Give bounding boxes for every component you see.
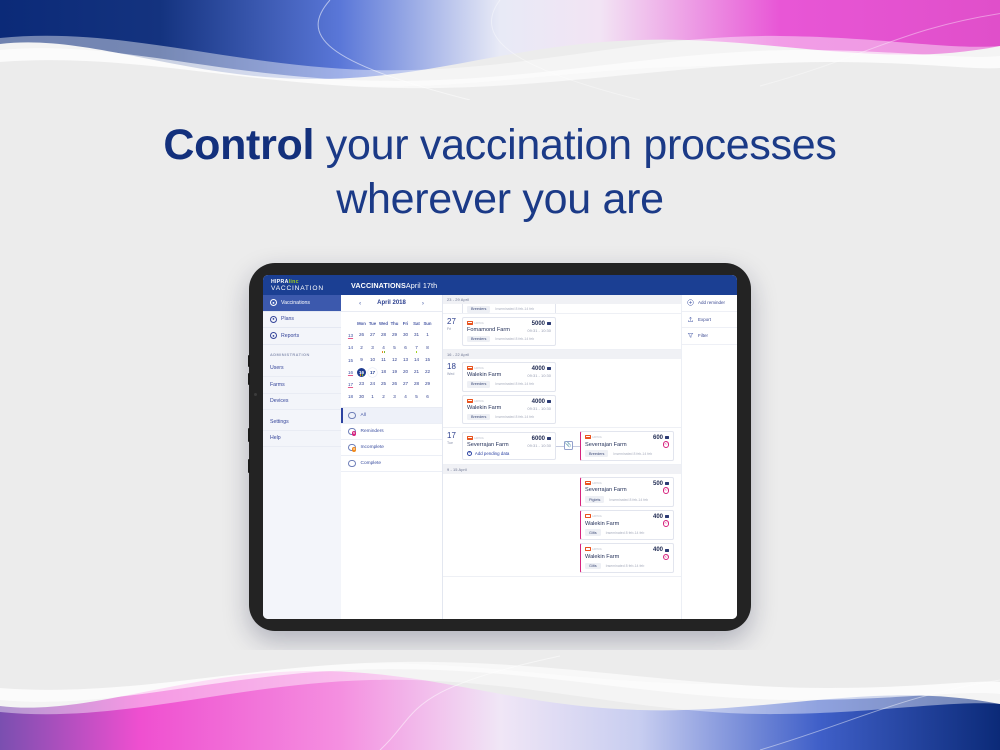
calendar-dow-label: Sun [422, 321, 433, 326]
dose-icon [665, 436, 670, 439]
event-card[interactable]: HIPRA6000Severrajan Farm09:31 - 10:30+Ad… [462, 432, 556, 460]
calendar-day-4[interactable]: 4 [400, 391, 411, 403]
calendar-day-28[interactable]: 28 [411, 378, 422, 390]
rail-export-button[interactable]: Export [682, 312, 737, 329]
dose-icon [547, 437, 552, 440]
event-card-body: Walekin Farm09:31 - 10:30 [467, 405, 551, 411]
calendar-dow-label: Tue [367, 321, 378, 326]
event-card-header: HIPRA400 [585, 514, 669, 520]
event-farm-name: Walekin Farm [467, 372, 501, 378]
event-insemination-range: Inseminated 8 feb-14 feb [613, 452, 652, 456]
page-title-caps: VACCINATIONS [351, 281, 406, 290]
event-card-header: HIPRA6000 [467, 436, 551, 442]
paperclip-icon[interactable]: 📎 [564, 441, 573, 450]
calendar-day-1[interactable]: 1 [367, 391, 378, 403]
event-card-body: Fomamond Farm09:31 - 10:30 [467, 327, 551, 333]
event-insemination-range: Inseminated 8 feb-14 feb [609, 498, 648, 502]
agenda-panel: 23 - 29 AprilBreedersInseminated 8 feb-1… [443, 295, 681, 619]
calendar-day-8[interactable]: 8 [422, 342, 433, 354]
add-pending-data-label: Add pending data [475, 451, 509, 456]
calendar-event-dot [362, 374, 364, 376]
front-camera-icon [254, 393, 257, 396]
power-button[interactable] [248, 428, 250, 442]
agenda-event-lane: HIPRA400Walekin Farm☉GiltsInseminated 8 … [462, 543, 677, 573]
calendar-day-29[interactable]: 29 [389, 329, 400, 341]
event-farm-name: Fomamond Farm [467, 327, 510, 333]
calendar-event-dot [384, 351, 386, 353]
clock-icon: 3 [348, 444, 356, 452]
calendar-filter-list: All6Reminders3IncompleteComplete [341, 407, 442, 472]
dose-icon [547, 400, 552, 403]
rail-item-label: Add reminder [698, 300, 725, 305]
page-headline: Control your vaccination processes where… [0, 118, 1000, 226]
event-farm-name: Walekin Farm [585, 521, 619, 527]
event-farm-name: Walekin Farm [585, 554, 619, 560]
chart-icon: ● [270, 332, 277, 339]
headline-bold: Control [163, 121, 314, 169]
event-card[interactable]: HIPRA400Walekin Farm☉GiltsInseminated 8 … [580, 510, 674, 540]
calendar-day-12[interactable]: 12 [389, 354, 400, 366]
dose-icon [547, 367, 552, 370]
filter-label: Reminders [361, 429, 384, 434]
calendar-week-row: 132627282930311 [345, 329, 438, 341]
sidebar-item-farms[interactable]: Farms [263, 377, 341, 394]
event-animal-tag: Gilts [585, 563, 601, 570]
event-time-range: 09:31 - 10:30 [527, 406, 551, 411]
headline-rest: your vaccination processes [314, 121, 837, 169]
event-card[interactable]: HIPRA500Severrajan Farm☉PigletsInseminat… [580, 477, 674, 507]
calendar-day-2[interactable]: 2 [378, 391, 389, 403]
app-top-bar: HIPRAlinc VACCINATION VACCINATIONS April… [263, 275, 737, 295]
agenda-week-header: 9 - 15 April [443, 465, 681, 474]
event-animal-tag: Piglets [585, 496, 604, 503]
agenda-week-header: 16 - 22 April [443, 350, 681, 359]
calendar-day-event-dots [378, 351, 389, 353]
calendar-day-9[interactable]: 9 [356, 354, 367, 366]
calendar-week-row: 142345678 [345, 342, 438, 354]
calendar-week-number[interactable]: 16 [345, 370, 356, 375]
reminder-bell-icon[interactable]: ☉ [663, 554, 670, 561]
calendar-day-1[interactable]: 1 [422, 329, 433, 341]
agenda-day-number: 18 [447, 363, 462, 371]
calendar-day-11[interactable]: 11 [378, 354, 389, 366]
sidebar-item-label: Devices [270, 398, 288, 404]
agenda-day-weekday: Wed [447, 372, 462, 376]
filter-complete[interactable]: Complete [341, 456, 442, 472]
calendar-week-row: 1723242526272829 [345, 378, 438, 390]
sidebar-item-devices[interactable]: Devices [263, 394, 341, 411]
event-card-logo: HIPRA [467, 321, 484, 325]
calendar-dow-label: Thu [389, 321, 400, 326]
event-quantity: 6000 [532, 436, 551, 442]
calendar-week-row: 1616171819202122 [345, 366, 438, 378]
event-card-logo: HIPRA [467, 399, 484, 403]
sidebar-item-label: Users [270, 365, 284, 371]
event-insemination-range: Inseminated 8 feb-14 feb [606, 564, 645, 568]
event-card-header: HIPRA4000 [467, 366, 551, 372]
calendar-month-label: April 2018 [377, 300, 406, 306]
calendar-day-4[interactable]: 4 [378, 342, 389, 354]
event-time-range: 09:31 - 10:30 [527, 443, 551, 448]
hipra-logo-icon [585, 547, 591, 551]
tablet-screen: HIPRAlinc VACCINATION VACCINATIONS April… [263, 275, 737, 619]
calendar-dow-label: Sat [411, 321, 422, 326]
event-card-footer: BreedersInseminated 8 feb-14 feb [467, 381, 551, 388]
sidebar-item-help[interactable]: Help [263, 431, 341, 448]
hipra-logo-icon [467, 399, 473, 403]
rail-filter-button[interactable]: Filter [682, 328, 737, 345]
tablet-device-frame: HIPRAlinc VACCINATION VACCINATIONS April… [249, 263, 751, 631]
grid-icon [348, 412, 356, 420]
calendar-day-30[interactable]: 30 [400, 329, 411, 341]
event-animal-tag: Breeders [467, 414, 490, 421]
calendar-week-row: 159101112131415 [345, 354, 438, 366]
agenda-event-lane: HIPRA500Severrajan Farm☉PigletsInseminat… [462, 477, 677, 507]
agenda-day-label: 18Wed [443, 359, 462, 427]
rail-item-label: Filter [698, 333, 708, 338]
event-card-footer: PigletsInseminated 8 feb-14 feb [585, 496, 669, 503]
event-card-body: Severrajan Farm☉ [585, 487, 669, 494]
sidebar-section-administration: ADMINISTRATION [263, 345, 341, 361]
page-title-date: April 17th [406, 281, 437, 290]
calendar-event-dot [360, 374, 362, 376]
agenda-day-weekday: Tue [447, 441, 462, 445]
sidebar-item-vaccinations[interactable]: ●Vaccinations [263, 295, 341, 312]
calendar-day-3[interactable]: 3 [367, 342, 378, 354]
event-farm-name: Severrajan Farm [585, 442, 627, 448]
event-card-logo: HIPRA [585, 547, 602, 551]
calendar-day-2[interactable]: 2 [356, 342, 367, 354]
agenda-event-lane: HIPRA4000Walekin Farm09:31 - 10:30Breede… [462, 362, 677, 392]
event-card[interactable]: HIPRA4000Walekin Farm09:31 - 10:30Breede… [462, 362, 556, 392]
upload-icon [687, 316, 694, 323]
event-quantity: 4000 [532, 366, 551, 372]
sidebar-item-label: Vaccinations [281, 300, 310, 306]
calendar-day-5[interactable]: 5 [389, 342, 400, 354]
event-card-header: HIPRA4000 [467, 399, 551, 405]
rail-add-reminder-button[interactable]: Add reminder [682, 295, 737, 312]
calendar-day-6[interactable]: 6 [400, 342, 411, 354]
event-animal-tag: Breeders [467, 336, 490, 343]
hipra-logo-icon [467, 436, 473, 440]
filter-incomplete[interactable]: 3Incomplete [341, 440, 442, 456]
decorative-wave-top [0, 0, 1000, 100]
rail-item-label: Export [698, 317, 711, 322]
calendar-day-13[interactable]: 13 [400, 354, 411, 366]
reminder-bell-icon[interactable]: ☉ [663, 487, 670, 494]
event-animal-tag: Gilts [585, 529, 601, 536]
event-farm-name: Walekin Farm [467, 405, 501, 411]
calendar-day-3[interactable]: 3 [389, 391, 400, 403]
event-card-body: Walekin Farm☉ [585, 554, 669, 561]
agenda-day-row: 18WedHIPRA4000Walekin Farm09:31 - 10:30B… [443, 359, 681, 428]
event-card-body: Severrajan Farm☉ [585, 441, 669, 448]
event-card-body: Walekin Farm09:31 - 10:30 [467, 372, 551, 378]
sidebar-item-users[interactable]: Users [263, 361, 341, 378]
event-quantity: 4000 [532, 399, 551, 405]
calendar-day-16[interactable]: 16 [357, 368, 366, 377]
calendar-next-month-button[interactable]: › [422, 300, 424, 307]
event-farm-name: Severrajan Farm [585, 487, 627, 493]
calendar-day-15[interactable]: 15 [422, 354, 433, 366]
calendar-panel: ‹ April 2018 › MonTueWedThuFriSatSun 132… [341, 295, 443, 619]
filter-reminders[interactable]: 6Reminders [341, 424, 442, 440]
agenda-event-lane: HIPRA6000Severrajan Farm09:31 - 10:30+Ad… [462, 431, 677, 461]
event-time-range: 09:31 - 10:30 [527, 373, 551, 378]
event-card-header: HIPRA5000 [467, 321, 551, 327]
event-insemination-range: Inseminated 8 feb-14 feb [495, 307, 534, 311]
funnel-icon [687, 332, 694, 339]
plus-circle-icon: + [467, 451, 472, 456]
event-card-footer: GiltsInseminated 8 feb-14 feb [585, 529, 669, 536]
dose-icon [665, 482, 670, 485]
event-time-range: 09:31 - 10:30 [527, 328, 551, 333]
bell-icon: 6 [348, 428, 356, 436]
agenda-day-weekday: Fri [447, 327, 462, 331]
event-card-header: HIPRA500 [585, 481, 669, 487]
event-card-footer: BreedersInseminated 8 feb-14 feb [467, 336, 551, 343]
sidebar-item-label: Help [270, 435, 281, 441]
event-animal-tag: Breeders [467, 306, 490, 313]
agenda-day-row: 27FriHIPRA5000Fomamond Farm09:31 - 10:30… [443, 314, 681, 350]
event-quantity: 400 [653, 547, 669, 553]
calendar-day-20[interactable]: 20 [400, 366, 411, 378]
action-rail: Add reminderExportFilter [681, 295, 737, 619]
calendar-week-number[interactable]: 17 [345, 382, 356, 387]
event-card-logo: HIPRA [585, 514, 602, 518]
event-insemination-range: Inseminated 8 feb-14 feb [495, 337, 534, 341]
calendar-week-row: 1830123456 [345, 391, 438, 403]
event-quantity: 5000 [532, 321, 551, 327]
volume-down-button[interactable] [248, 373, 250, 385]
sidebar-item-settings[interactable]: Settings [263, 414, 341, 431]
calendar-day-17[interactable]: 17 [368, 368, 377, 377]
filter-badge: 3 [352, 447, 357, 452]
filter-all[interactable]: All [341, 408, 442, 424]
calendar-week-number[interactable]: 18 [345, 394, 356, 399]
dose-icon [665, 515, 670, 518]
plus-circle-icon [687, 299, 694, 306]
syringe-icon: ● [270, 299, 277, 306]
check-circle-icon [348, 460, 356, 468]
calendar-day-event-dots [411, 351, 422, 353]
sidebar: ●Vaccinations●Plans●Reports ADMINISTRATI… [263, 295, 341, 619]
calendar-dow-label: Fri [400, 321, 411, 326]
filter-badge: 6 [352, 431, 357, 436]
event-card-header: HIPRA400 [585, 547, 669, 553]
event-animal-tag: Breeders [585, 450, 608, 457]
hipra-logo-icon [585, 514, 591, 518]
calendar-dow-row: MonTueWedThuFriSatSun [345, 317, 438, 329]
calendar-day-10[interactable]: 10 [367, 354, 378, 366]
sidebar-item-label: Farms [270, 382, 285, 388]
event-card-clipped[interactable]: BreedersInseminated 8 feb-14 feb [462, 304, 556, 314]
calendar-day-18[interactable]: 18 [378, 366, 389, 378]
calendar-day-27[interactable]: 27 [400, 378, 411, 390]
sidebar-item-label: Plans [281, 316, 294, 322]
calendar-day-21[interactable]: 21 [411, 366, 422, 378]
decorative-wave-bottom [0, 650, 1000, 750]
event-card-header: HIPRA600 [585, 435, 669, 441]
calendar-event-dot [416, 351, 418, 353]
event-card-footer: GiltsInseminated 8 feb-14 feb [585, 563, 669, 570]
event-insemination-range: Inseminated 8 feb-14 feb [495, 382, 534, 386]
agenda-day-label: 17Tue [443, 428, 462, 464]
calendar-week-number[interactable]: 13 [345, 333, 356, 338]
calendar-day-23[interactable]: 23 [356, 378, 367, 390]
page-title: VACCINATIONS April 17th [341, 275, 437, 295]
event-card-body: Severrajan Farm09:31 - 10:30 [467, 442, 551, 448]
event-insemination-range: Inseminated 8 feb-14 feb [606, 531, 645, 535]
calendar-dow-label: Mon [356, 321, 367, 326]
calendar-header: ‹ April 2018 › [341, 295, 442, 312]
calendar-day-26[interactable]: 26 [389, 378, 400, 390]
agenda-day-number: 27 [447, 318, 462, 326]
filter-label: All [361, 413, 366, 418]
calendar-day-22[interactable]: 22 [422, 366, 433, 378]
logo-vaccination: VACCINATION [271, 285, 341, 292]
event-card-logo: HIPRA [467, 366, 484, 370]
event-link-connector: 📎 [556, 441, 580, 450]
agenda-day-label: 27Fri [443, 314, 462, 349]
calendar-day-14[interactable]: 14 [411, 354, 422, 366]
event-farm-name: Severrajan Farm [467, 442, 509, 448]
calendar-day-26[interactable]: 26 [356, 329, 367, 341]
calendar-day-27[interactable]: 27 [367, 329, 378, 341]
agenda-event-lane: HIPRA400Walekin Farm☉GiltsInseminated 8 … [462, 510, 677, 540]
event-card-footer: BreedersInseminated 8 feb-14 feb [467, 414, 551, 421]
calendar-day-30[interactable]: 30 [356, 391, 367, 403]
event-card-logo: HIPRA [585, 435, 602, 439]
agenda-day-row: 17TueHIPRA6000Severrajan Farm09:31 - 10:… [443, 428, 681, 465]
calendar-dow-label: Wed [378, 321, 389, 326]
event-card[interactable]: HIPRA400Walekin Farm☉GiltsInseminated 8 … [580, 543, 674, 573]
calendar-day-25[interactable]: 25 [378, 378, 389, 390]
sidebar-item-plans[interactable]: ●Plans [263, 312, 341, 329]
calendar-prev-month-button[interactable]: ‹ [359, 300, 361, 307]
agenda-week-header: 23 - 29 April [443, 295, 681, 304]
filter-label: Incomplete [361, 445, 384, 450]
dose-icon [665, 549, 670, 552]
sidebar-item-label: Reports [281, 333, 299, 339]
event-card[interactable]: HIPRA4000Walekin Farm09:31 - 10:30Breede… [462, 395, 556, 425]
calendar-day-7[interactable]: 7 [411, 342, 422, 354]
calendar-day-event-dots [357, 374, 366, 376]
volume-up-button[interactable] [248, 355, 250, 367]
event-insemination-range: Inseminated 8 feb-14 feb [495, 415, 534, 419]
agenda-partial-row: BreedersInseminated 8 feb-14 feb [443, 304, 681, 314]
reminder-bell-icon[interactable]: ☉ [663, 520, 670, 527]
sidebar-item-label: Settings [270, 419, 289, 425]
agenda-day-row: HIPRA500Severrajan Farm☉PigletsInseminat… [443, 474, 681, 577]
agenda-day-label [443, 474, 462, 576]
home-button[interactable] [248, 459, 250, 473]
hipra-logo-icon [467, 366, 473, 370]
calendar-day-29[interactable]: 29 [422, 378, 433, 390]
calendar-day-24[interactable]: 24 [367, 378, 378, 390]
calendar-day-19[interactable]: 19 [389, 366, 400, 378]
event-card-logo: HIPRA [585, 481, 602, 485]
event-quantity: 600 [653, 435, 669, 441]
app-logo: HIPRAlinc VACCINATION [263, 275, 341, 295]
calendar-event-dot [382, 351, 384, 353]
calendar-day-5[interactable]: 5 [411, 391, 422, 403]
agenda-event-lane: HIPRA4000Walekin Farm09:31 - 10:30Breede… [462, 395, 677, 425]
event-card-logo: HIPRA [467, 436, 484, 440]
add-pending-data-button[interactable]: +Add pending data [467, 451, 551, 456]
calendar-day-6[interactable]: 6 [422, 391, 433, 403]
agenda-day-number: 17 [447, 432, 462, 440]
event-quantity: 500 [653, 481, 669, 487]
hipra-logo-icon [585, 481, 591, 485]
event-card[interactable]: HIPRA600Severrajan Farm☉BreedersInsemina… [580, 431, 674, 461]
calendar-week-number[interactable]: 15 [345, 358, 356, 363]
calendar-grid: MonTueWedThuFriSatSun 132627282930311142… [341, 312, 442, 407]
event-animal-tag: Breeders [467, 381, 490, 388]
headline-line2: wherever you are [0, 172, 1000, 226]
event-card[interactable]: HIPRA5000Fomamond Farm09:31 - 10:30Breed… [462, 317, 556, 347]
sidebar-item-reports[interactable]: ●Reports [263, 328, 341, 345]
event-card-body: Walekin Farm☉ [585, 520, 669, 527]
hipra-logo-icon [467, 321, 473, 325]
calendar-day-31[interactable]: 31 [411, 329, 422, 341]
calendar-week-number[interactable]: 14 [345, 345, 356, 350]
agenda-event-lane: HIPRA5000Fomamond Farm09:31 - 10:30Breed… [462, 317, 677, 347]
event-quantity: 400 [653, 514, 669, 520]
clipboard-icon: ● [270, 316, 277, 323]
filter-label: Complete [361, 461, 382, 466]
hipra-logo-icon [585, 435, 591, 439]
event-card-footer: BreedersInseminated 8 feb-14 feb [585, 450, 669, 457]
dose-icon [547, 322, 552, 325]
reminder-bell-icon[interactable]: ☉ [663, 441, 670, 448]
calendar-day-28[interactable]: 28 [378, 329, 389, 341]
